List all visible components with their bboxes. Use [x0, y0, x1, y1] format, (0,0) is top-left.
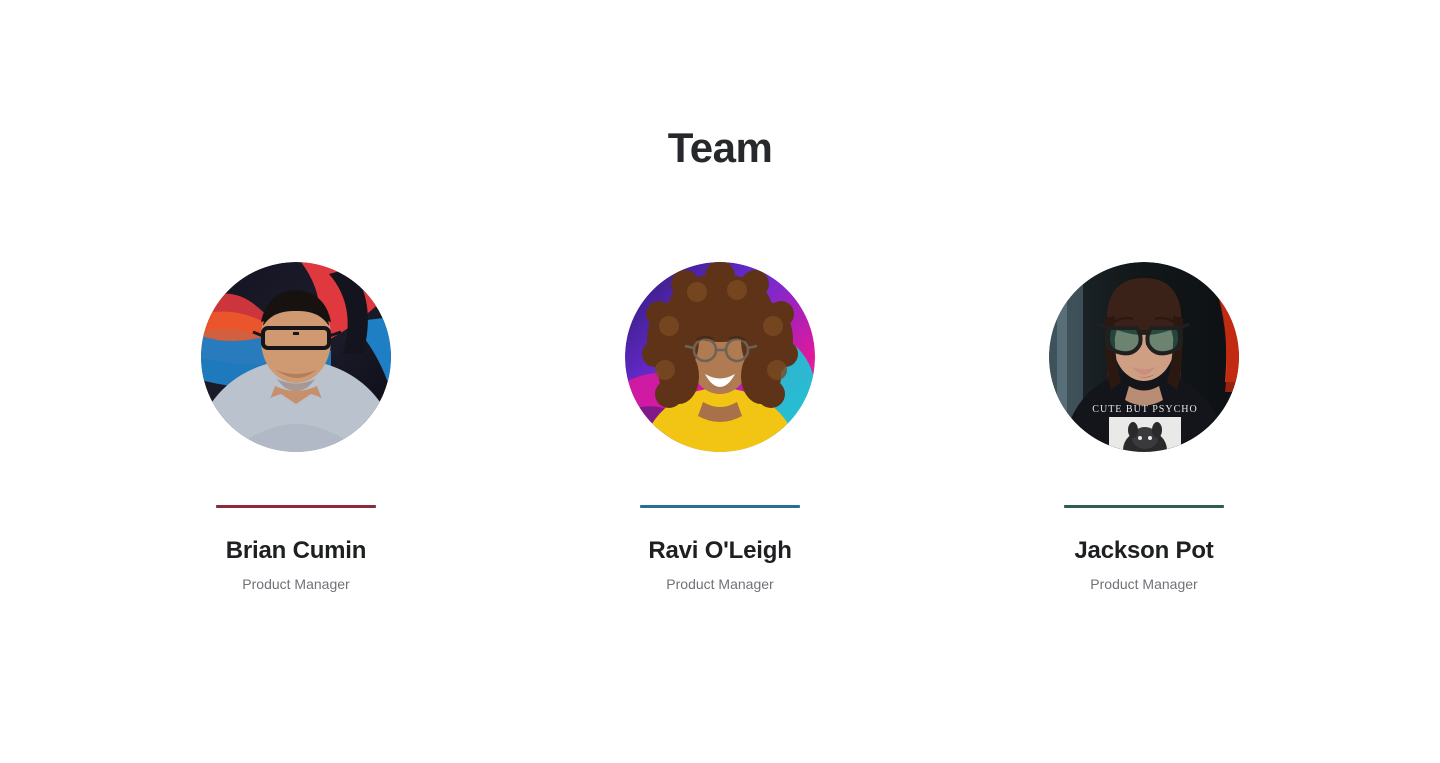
- member-name: Brian Cumin: [226, 536, 366, 566]
- member-divider: [640, 505, 800, 508]
- avatar: CUTE BUT PSYCHO: [1049, 262, 1239, 452]
- avatar-photo-man-glasses-grey-tshirt: [201, 262, 391, 452]
- page-title: Team: [0, 122, 1440, 174]
- member-divider: [1064, 505, 1224, 508]
- team-member-card[interactable]: CUTE BUT PSYCHO Jackson Pot Product Mana…: [932, 262, 1356, 593]
- svg-text:CUTE BUT PSYCHO: CUTE BUT PSYCHO: [1092, 404, 1197, 415]
- member-name: Ravi O'Leigh: [648, 536, 791, 566]
- avatar-photo-woman-curly-hair-yellow-top: [625, 262, 815, 452]
- member-role: Product Manager: [242, 575, 349, 593]
- member-role: Product Manager: [1090, 575, 1197, 593]
- avatar-photo-woman-glasses-black-shirt: CUTE BUT PSYCHO: [1049, 262, 1239, 452]
- member-divider: [216, 505, 376, 508]
- team-member-card[interactable]: Brian Cumin Product Manager: [84, 262, 508, 593]
- avatar: [625, 262, 815, 452]
- team-page: Team: [0, 0, 1440, 763]
- team-member-grid: Brian Cumin Product Manager: [0, 262, 1440, 593]
- avatar: [201, 262, 391, 452]
- team-member-card[interactable]: Ravi O'Leigh Product Manager: [508, 262, 932, 593]
- member-role: Product Manager: [666, 575, 773, 593]
- member-name: Jackson Pot: [1074, 536, 1213, 566]
